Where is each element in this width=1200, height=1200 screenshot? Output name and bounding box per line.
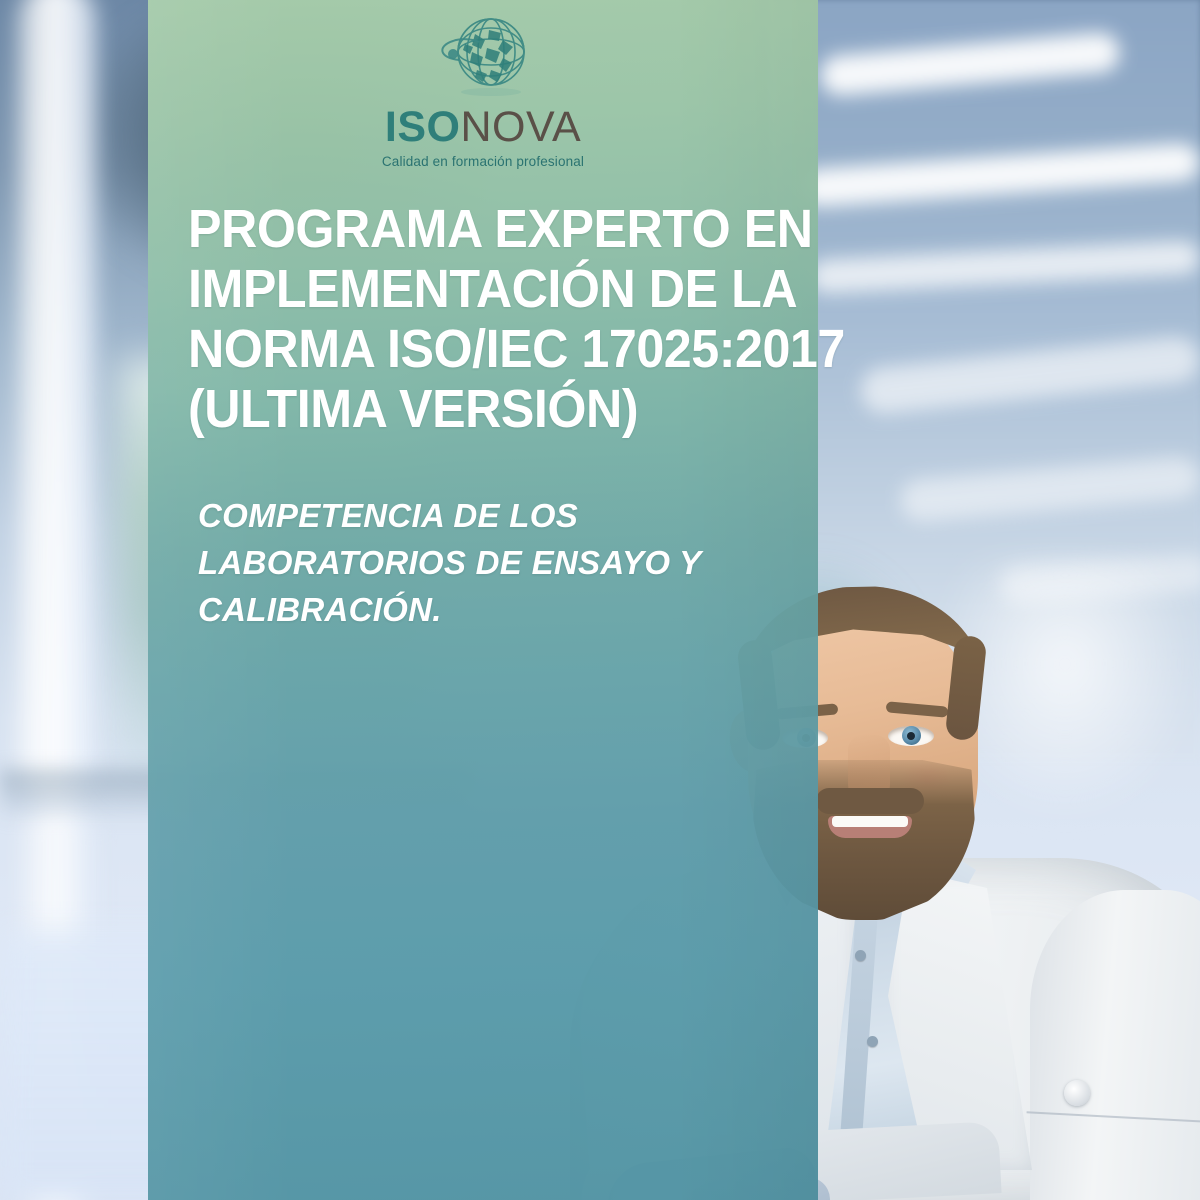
headline-line-3: NORMA ISO/IEC 17025:2017	[188, 319, 765, 379]
headline-line-4: (ULTIMA VERSIÓN)	[188, 379, 765, 439]
headline-line-2: IMPLEMENTACIÓN DE LA	[188, 259, 765, 319]
brand-wordmark: ISONOVA	[148, 106, 818, 149]
brand-name-nova: NOVA	[460, 103, 581, 151]
brand-name-iso: ISO	[385, 103, 461, 151]
pupil-right	[907, 732, 915, 740]
subtitle-line-3: CALIBRACIÓN.	[198, 586, 778, 633]
poster-canvas: ISONOVA Calidad en formación profesional…	[0, 0, 1200, 1200]
subtitle-line-2: LABORATORIOS DE ENSAYO Y	[198, 539, 778, 586]
brand-logo: ISONOVA Calidad en formación profesional	[148, 8, 818, 169]
brand-tagline: Calidad en formación profesional	[148, 154, 818, 169]
lab-coat-button	[1064, 1080, 1090, 1106]
headline: PROGRAMA EXPERTO EN IMPLEMENTACIÓN DE LA…	[188, 199, 765, 439]
subtitle-line-1: COMPETENCIA DE LOS	[198, 492, 778, 539]
wireframe-globe-icon	[427, 8, 539, 104]
mouth	[828, 816, 912, 838]
subtitle: COMPETENCIA DE LOS LABORATORIOS DE ENSAY…	[198, 492, 778, 633]
background-pillar-upper	[18, 0, 96, 800]
lab-coat-right-sleeve	[1030, 890, 1200, 1200]
shirt-button	[867, 1036, 878, 1047]
headline-line-1: PROGRAMA EXPERTO EN	[188, 199, 765, 259]
teeth	[832, 816, 908, 827]
shirt-button	[855, 950, 866, 961]
mustache	[816, 788, 924, 814]
